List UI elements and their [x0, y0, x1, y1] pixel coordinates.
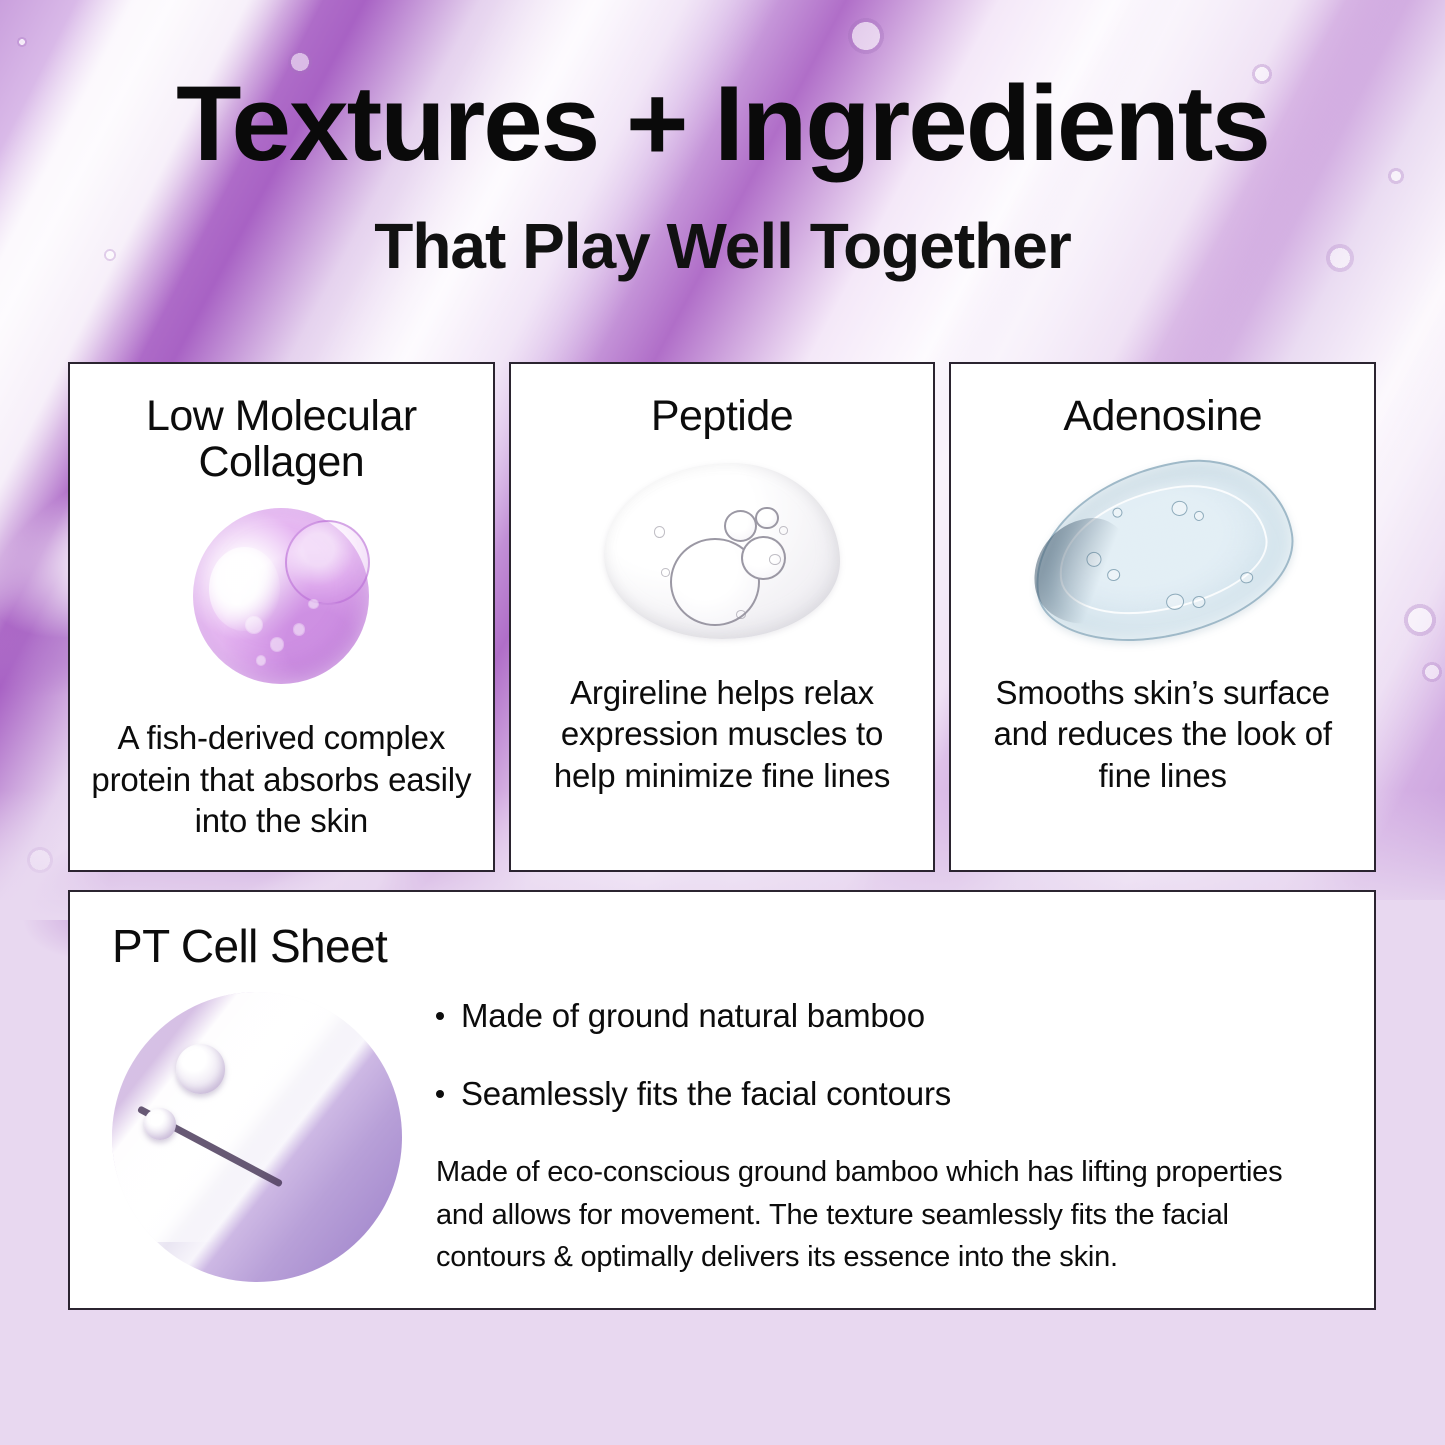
gel-micro-bubble: [779, 526, 788, 535]
sphere-bubble-specks: [193, 508, 369, 684]
ingredient-card-row: Low Molecular Collagen A fish-derived co…: [68, 362, 1376, 872]
card-swatch: [967, 446, 1358, 656]
ingredient-card-low-molecular-collagen: Low Molecular Collagen A fish-derived co…: [68, 362, 495, 872]
bullet-dot-icon: [436, 1090, 444, 1098]
infographic-page: Textures + Ingredients That Play Well To…: [0, 0, 1445, 1445]
card-description: Argireline helps relax expression muscle…: [527, 672, 918, 797]
card-title: Peptide: [651, 394, 793, 440]
panel-body: Made of ground natural bamboo Seamlessly…: [112, 992, 1340, 1282]
gel-micro-bubble: [654, 526, 666, 538]
card-description: Smooths skin’s surface and reduces the l…: [967, 672, 1358, 797]
card-title: Adenosine: [1063, 394, 1262, 440]
blue-gel-teardrop-icon: [1020, 445, 1306, 656]
gel-bubble-small-b: [755, 507, 779, 530]
pt-cell-sheet-panel: PT Cell Sheet Made of ground natural bam…: [68, 890, 1376, 1310]
card-description: A fish-derived complex protein that abso…: [86, 717, 477, 842]
purple-collagen-sphere-icon: [193, 508, 369, 684]
list-item-label: Made of ground natural bamboo: [461, 996, 925, 1036]
card-swatch: [527, 446, 918, 656]
ingredient-card-adenosine: Adenosine Smooths skin’s surface and: [949, 362, 1376, 872]
card-title: Low Molecular Collagen: [86, 394, 477, 485]
clear-gel-blob-icon: [604, 463, 840, 639]
page-title: Textures + Ingredients: [0, 70, 1445, 177]
list-item: Made of ground natural bamboo: [436, 996, 1340, 1036]
teardrop-bubble-specks: [1022, 447, 1303, 653]
ingredient-card-peptide: Peptide Argireline helps relax expressio…: [509, 362, 936, 872]
card-swatch: [86, 491, 477, 701]
gel-micro-bubble: [661, 568, 670, 577]
gel-micro-bubble: [736, 610, 745, 619]
panel-paragraph: Made of eco-conscious ground bamboo whic…: [436, 1151, 1336, 1278]
panel-text-column: Made of ground natural bamboo Seamlessly…: [436, 992, 1340, 1282]
droplet-small: [144, 1108, 176, 1140]
list-item: Seamlessly fits the facial contours: [436, 1074, 1340, 1114]
panel-title: PT Cell Sheet: [112, 922, 1340, 970]
gel-bubble-small-a: [724, 510, 757, 542]
bamboo-sheet-texture-photo: [112, 992, 402, 1282]
gel-micro-bubble: [769, 554, 781, 565]
list-item-label: Seamlessly fits the facial contours: [461, 1074, 951, 1114]
bullet-dot-icon: [436, 1012, 444, 1020]
droplet-large: [176, 1044, 225, 1093]
page-subtitle: That Play Well Together: [0, 214, 1445, 278]
